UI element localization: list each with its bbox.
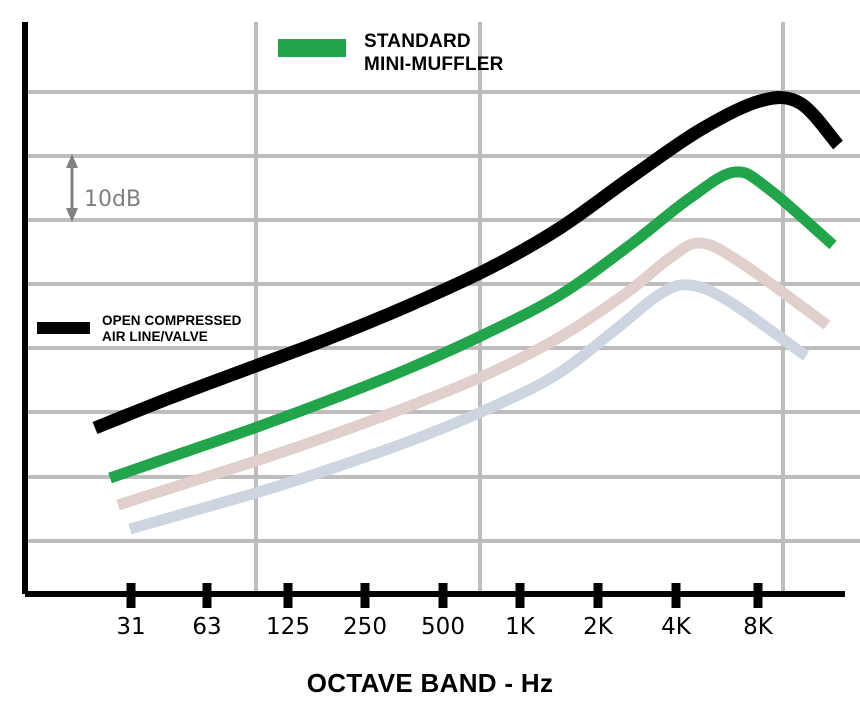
x-tick-label-125: 125	[266, 614, 310, 640]
x-tick-label-63: 63	[192, 614, 221, 640]
chart-container: STANDARD MINI-MUFFLER OPEN COMPRESSED AI…	[0, 0, 860, 720]
legend-swatch-green	[278, 39, 346, 57]
x-tick-label-2K: 2K	[583, 614, 613, 640]
legend-swatch-black	[37, 322, 90, 334]
x-tick-label-250: 250	[343, 614, 387, 640]
x-tick-label-500: 500	[421, 614, 465, 640]
x-tick-label-4K: 4K	[661, 614, 691, 640]
legend-standard-mini-muffler: STANDARD MINI-MUFFLER	[278, 30, 504, 76]
x-tick-label-31: 31	[116, 614, 145, 640]
legend-open-compressed-air: OPEN COMPRESSED AIR LINE/VALVE	[37, 313, 242, 346]
vertical-gridlines	[256, 22, 783, 594]
x-tick-label-8K: 8K	[743, 614, 773, 640]
x-axis-title: OCTAVE BAND - Hz	[0, 668, 860, 699]
x-tick-label-1K: 1K	[505, 614, 535, 640]
scale-bar-label: 10dB	[84, 187, 141, 212]
legend-label-standard: STANDARD MINI-MUFFLER	[364, 30, 504, 76]
plot-area	[0, 0, 860, 720]
legend-label-open: OPEN COMPRESSED AIR LINE/VALVE	[102, 313, 242, 346]
scale-bar-arrow	[66, 154, 78, 222]
axis-lines	[25, 22, 845, 594]
